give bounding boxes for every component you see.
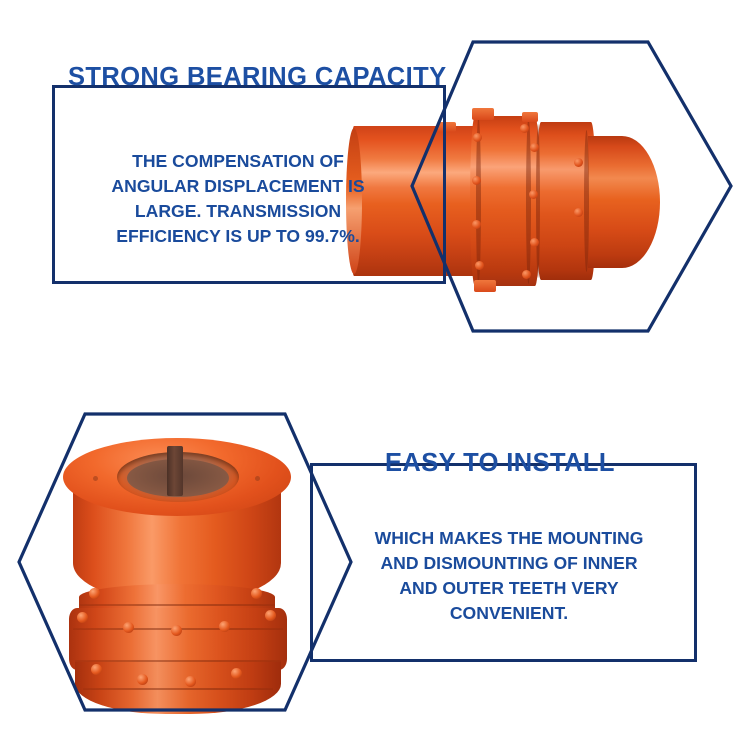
- hexagon-frame-bottom: [17, 412, 353, 712]
- infographic-canvas: STRONG BEARING CAPACITY THE COMPENSATION…: [0, 0, 750, 750]
- page-title-easy-to-install: EASY TO INSTALL: [385, 451, 615, 477]
- hexagon-outline-bottom: [17, 412, 353, 712]
- hexagon-frame-top: [410, 40, 733, 333]
- feature-description-bottom: WHICH MAKES THE MOUNTING AND DISMOUNTING…: [344, 526, 674, 626]
- feature-description-top: THE COMPENSATION OF ANGULAR DISPLACEMENT…: [62, 149, 414, 249]
- hexagon-outline-top: [410, 40, 733, 333]
- page-title-strong-bearing-capacity: STRONG BEARING CAPACITY: [68, 65, 447, 91]
